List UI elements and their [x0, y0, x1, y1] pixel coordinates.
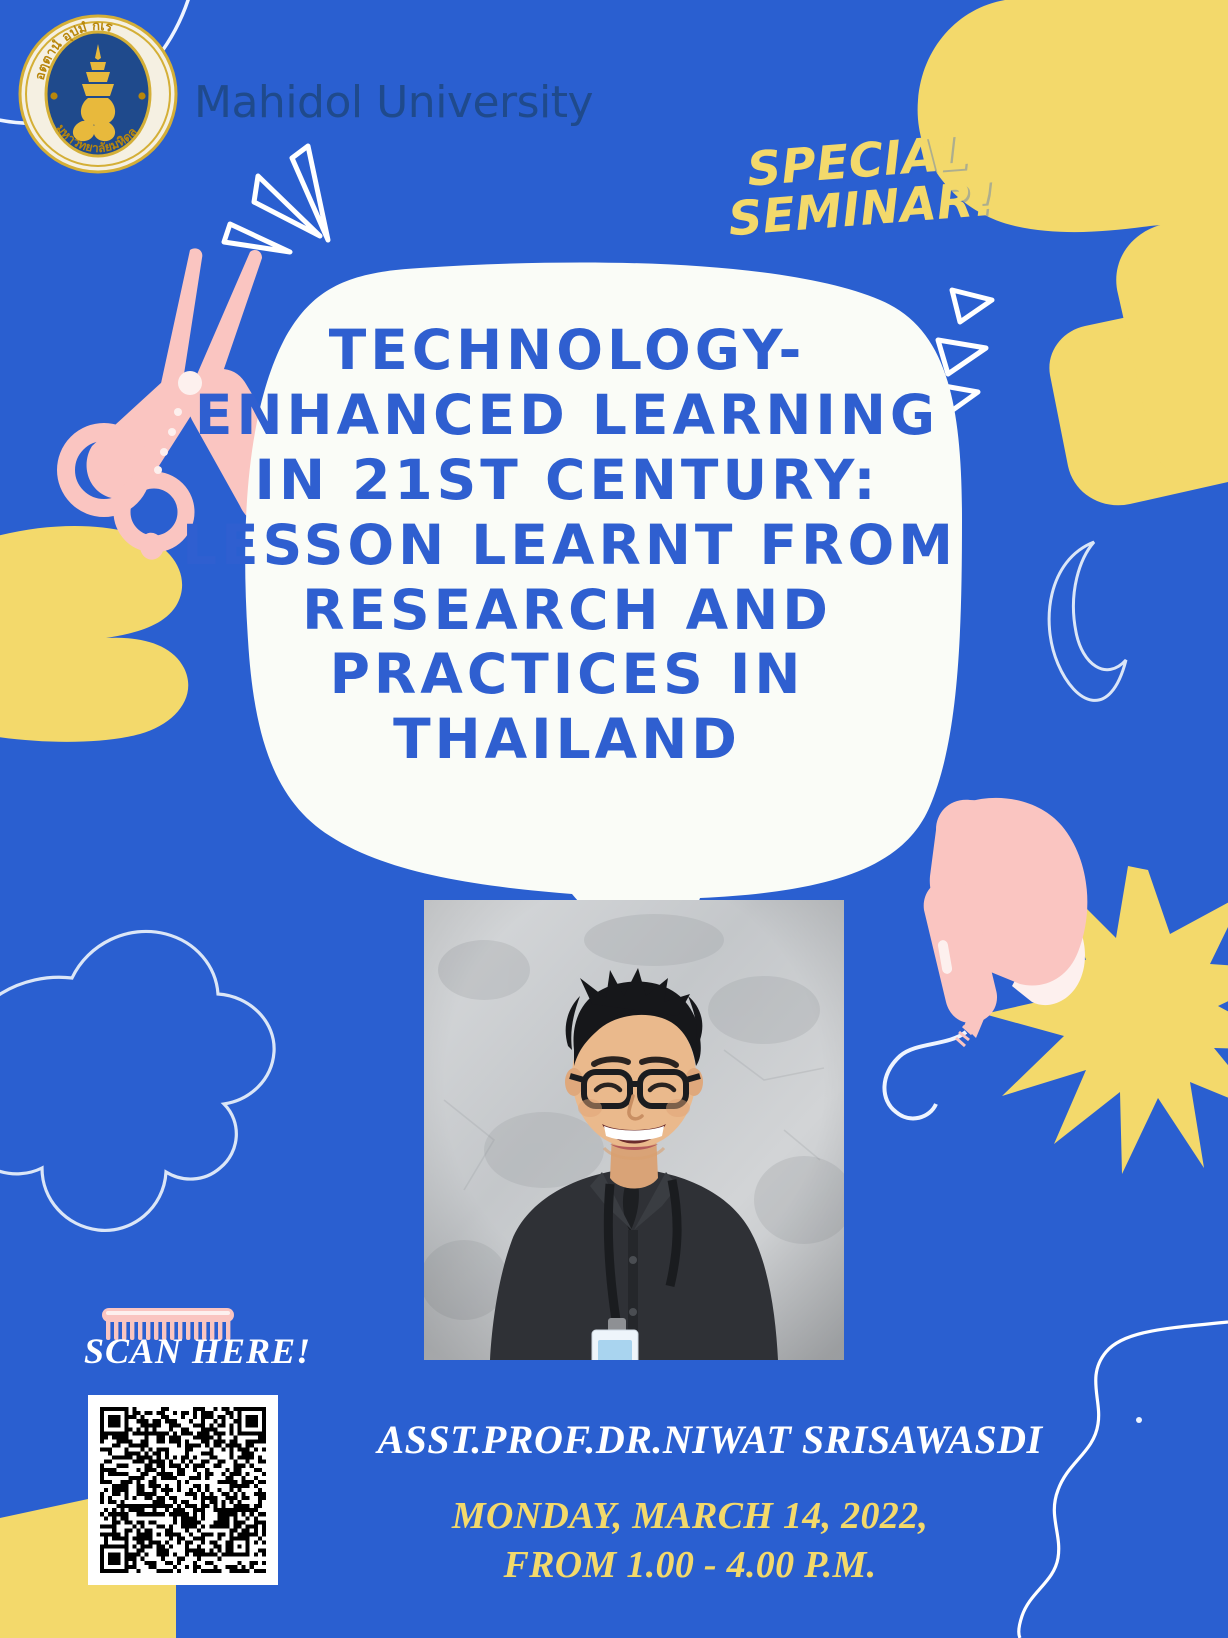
yellow-blob-shape [0, 526, 188, 742]
speaker-name: ASST.PROF.DR.NIWAT SRISAWASDI [330, 1416, 1090, 1463]
speech-bubble [0, 0, 1228, 1638]
scan-here-label: SCAN HERE! [84, 1330, 311, 1372]
dot-icon [1136, 1417, 1142, 1423]
title-line-7: THAILAND [182, 707, 952, 772]
wavy-line-icon [1019, 1322, 1228, 1638]
hair-dryer-icon [0, 0, 1228, 1638]
cloud-outline-icon [0, 931, 274, 1230]
university-header: อตฺตานํ อุปมํ กเร มหาวิทยาลัยมหิดล Mahid… [18, 14, 593, 174]
qr-code-icon[interactable] [88, 1395, 278, 1585]
title-line-3: IN 21ST CENTURY: [182, 448, 952, 513]
speaker-portrait-illustration [424, 900, 844, 1360]
event-date-line: MONDAY, MARCH 14, 2022, [310, 1492, 1070, 1541]
university-name: Mahidol University [194, 81, 593, 125]
event-time-line: FROM 1.00 - 4.00 P.M. [310, 1541, 1070, 1590]
scissors-icon [0, 0, 1228, 1638]
page-title: TECHNOLOGY- ENHANCED LEARNING IN 21ST CE… [182, 318, 952, 772]
comb-icon [0, 0, 1228, 1638]
speaker-photo [424, 900, 844, 1360]
qr-code-canvas [92, 1399, 274, 1581]
title-line-2: ENHANCED LEARNING [182, 383, 952, 448]
crescent-moon-icon [1049, 542, 1126, 700]
title-line-6: PRACTICES IN [182, 642, 952, 707]
mahidol-university-seal-icon: อตฺตานํ อุปมํ กเร มหาวิทยาลัยมหิดล [18, 14, 178, 174]
starburst-icon [984, 866, 1228, 1174]
seminar-poster: อตฺตานํ อุปมํ กเร มหาวิทยาลัยมหิดล Mahid… [0, 0, 1228, 1638]
title-line-5: RESEARCH AND [182, 578, 952, 643]
special-seminar-badge: SPECIAL SEMINAR! [697, 126, 1024, 247]
title-line-4: LESSON LEARNT FROM [182, 513, 952, 578]
title-line-1: TECHNOLOGY- [182, 318, 952, 383]
event-datetime: MONDAY, MARCH 14, 2022, FROM 1.00 - 4.00… [310, 1492, 1070, 1589]
background-decorations [0, 0, 1228, 1638]
yellow-swoosh-shape [918, 0, 1228, 505]
